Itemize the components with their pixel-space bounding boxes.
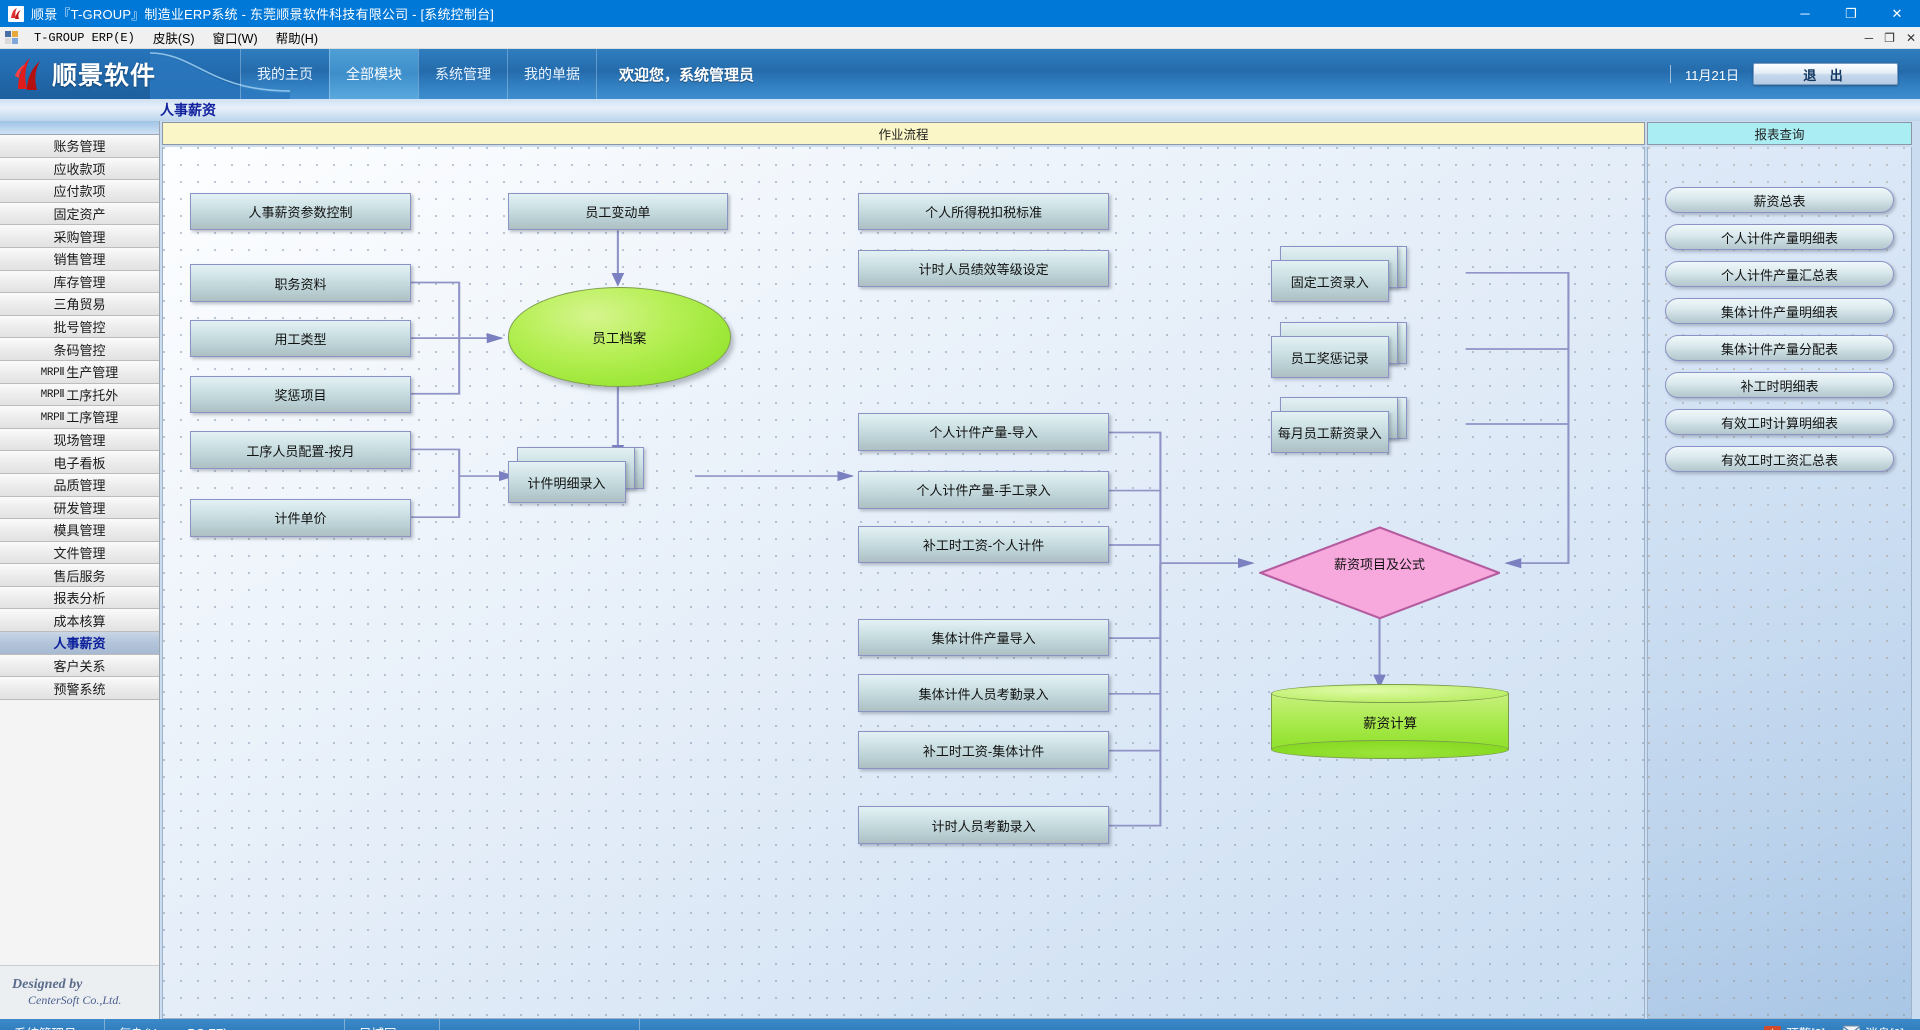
sidebar-item-label: 账务管理 — [53, 136, 105, 155]
node-employee-archive[interactable]: 员工档案 — [508, 287, 732, 386]
node-hourly-staff-attendance[interactable]: 计时人员考勤录入 — [858, 806, 1109, 844]
tab-all-modules[interactable]: 全部模块 — [329, 49, 418, 99]
node-label: 用工类型 — [274, 329, 326, 348]
node-hr-salary-param-control[interactable]: 人事薪资参数控制 — [190, 193, 411, 231]
sidebar-item-label: 库存管理 — [53, 272, 105, 291]
sidebar-item-label: 模具管理 — [53, 520, 105, 539]
node-job-info[interactable]: 职务资料 — [190, 264, 411, 302]
alert-label: 预警[2] — [1786, 1023, 1825, 1030]
sidebar-item-label: 人事薪资 — [53, 633, 105, 652]
brand-name: 顺景软件 — [52, 56, 156, 92]
stack-card-front: 每月员工薪资录入 — [1271, 411, 1389, 453]
node-hourly-perf-grade[interactable]: 计时人员绩效等级设定 — [858, 250, 1109, 288]
welcome-message: 欢迎您，系统管理员 — [597, 49, 776, 99]
sidebar-item-label: 报表分析 — [53, 588, 105, 607]
mdi-close-icon[interactable]: ✕ — [1906, 31, 1916, 45]
sidebar-item-17[interactable]: 模具管理 — [0, 519, 159, 542]
stack-monthly-salary-entry[interactable]: 每月员工薪资录入 — [1271, 397, 1477, 470]
sidebar-filler — [0, 700, 159, 965]
sidebar-item-8[interactable]: 批号管控 — [0, 316, 159, 339]
designed-by-label: Designed by — [12, 977, 159, 993]
module-grid-icon — [5, 31, 19, 45]
report-valid-hours-detail[interactable]: 有效工时计算明细表 — [1665, 409, 1894, 435]
sidebar-item-23[interactable]: 客户关系 — [0, 655, 159, 678]
node-label: 集体计件人员考勤录入 — [919, 684, 1049, 703]
sidebar-item-label: 客户关系 — [53, 656, 105, 675]
report-salary-summary[interactable]: 薪资总表 — [1665, 187, 1894, 213]
node-label: 工序人员配置-按月 — [246, 441, 354, 460]
flow-diagram-panel: 人事薪资参数控制职务资料用工类型奖惩项目工序人员配置-按月计件单价员工变动单个人… — [162, 147, 1645, 1019]
shunjing-flame-logo — [12, 56, 46, 92]
sidebar-item-19[interactable]: 售后服务 — [0, 564, 159, 587]
status-blank — [440, 1019, 640, 1030]
sidebar-item-2[interactable]: 应付款项 — [0, 180, 159, 203]
node-personal-piece-import[interactable]: 个人计件产量-导入 — [858, 413, 1109, 451]
panel-tabs: 作业流程 报表查询 — [162, 122, 1912, 145]
node-label: 员工档案 — [592, 327, 646, 347]
node-label: 员工变动单 — [585, 202, 650, 221]
sidebar-item-label: 成本核算 — [53, 611, 105, 630]
report-personal-piece-summary[interactable]: 个人计件产量汇总表 — [1665, 261, 1894, 287]
header-divider — [1670, 65, 1671, 83]
close-icon[interactable]: ✕ — [1874, 0, 1920, 27]
node-process-staff-config[interactable]: 工序人员配置-按月 — [190, 431, 411, 469]
report-group-piece-detail[interactable]: 集体计件产量明细表 — [1665, 298, 1894, 324]
sidebar-item-13[interactable]: 现场管理 — [0, 429, 159, 452]
menu-item-erp[interactable]: T-GROUP ERP(E) — [25, 29, 144, 47]
statusbar: 系统管理员 复杂(Young-PC:FZ) 局域网 预警[2] 消息[9] — [0, 1019, 1920, 1030]
sidebar-item-label: 文件管理 — [53, 543, 105, 562]
sidebar-item-label: 研发管理 — [53, 498, 105, 517]
sidebar-item-label: 生产管理 — [66, 362, 118, 381]
report-button-label: 集体计件产量分配表 — [1721, 339, 1838, 358]
report-button-label: 个人计件产量汇总表 — [1721, 265, 1838, 284]
sidebar-item-12[interactable]: MRPⅡ工序管理 — [0, 406, 159, 429]
message-label: 消息[9] — [1865, 1023, 1904, 1030]
report-personal-piece-detail[interactable]: 个人计件产量明细表 — [1665, 224, 1894, 250]
workspace: 作业流程 报表查询 — [160, 121, 1920, 1019]
report-button-label: 有效工时工资汇总表 — [1721, 450, 1838, 469]
report-button-label: 有效工时计算明细表 — [1721, 413, 1838, 432]
tab-report-query[interactable]: 报表查询 — [1647, 122, 1912, 145]
window-titlebar: 顺景『T-GROUP』制造业ERP系统 - 东莞顺景软件科技有限公司 - [系统… — [0, 0, 1920, 27]
node-label: 计件明细录入 — [528, 473, 606, 492]
sidebar-item-3[interactable]: 固定资产 — [0, 203, 159, 226]
sidebar-item-16[interactable]: 研发管理 — [0, 497, 159, 520]
report-query-panel: 薪资总表个人计件产量明细表个人计件产量汇总表集体计件产量明细表集体计件产量分配表… — [1647, 147, 1912, 1019]
sidebar-item-11[interactable]: MRPⅡ工序托外 — [0, 384, 159, 407]
stack-card-front: 固定工资录入 — [1271, 260, 1389, 302]
sidebar-item-14[interactable]: 电子看板 — [0, 451, 159, 474]
sidebar-item-label: 批号管控 — [53, 317, 105, 336]
stack-employee-reward-record[interactable]: 员工奖惩记录 — [1271, 322, 1477, 395]
node-label: 补工时工资-集体计件 — [923, 741, 1044, 760]
node-label: 员工奖惩记录 — [1291, 348, 1369, 367]
report-group-piece-allocation[interactable]: 集体计件产量分配表 — [1665, 335, 1894, 361]
node-income-tax-standard[interactable]: 个人所得税扣税标准 — [858, 193, 1109, 231]
sidebar-item-24[interactable]: 预警系统 — [0, 677, 159, 700]
sidebar-item-10[interactable]: MRPⅡ生产管理 — [0, 361, 159, 384]
node-label: 个人所得税扣税标准 — [925, 202, 1042, 221]
node-label: 职务资料 — [274, 274, 326, 293]
panels: 人事薪资参数控制职务资料用工类型奖惩项目工序人员配置-按月计件单价员工变动单个人… — [162, 147, 1912, 1019]
node-reward-penalty-item[interactable]: 奖惩项目 — [190, 376, 411, 414]
sidebar-item-label: 现场管理 — [53, 430, 105, 449]
sidebar-item-21[interactable]: 成本核算 — [0, 609, 159, 632]
menu-item-help[interactable]: 帮助(H) — [267, 26, 327, 49]
report-button-label: 集体计件产量明细表 — [1721, 302, 1838, 321]
status-right: 预警[2] 消息[9] — [1764, 1023, 1920, 1030]
sidebar-item-label: 固定资产 — [53, 204, 105, 223]
alert-chip[interactable]: 预警[2] — [1764, 1023, 1825, 1030]
window-controls: ─ ❐ ✕ — [1782, 0, 1920, 27]
tab-work-flow[interactable]: 作业流程 — [162, 122, 1645, 145]
sidebar-item-7[interactable]: 三角贸易 — [0, 293, 159, 316]
node-employee-change-form[interactable]: 员工变动单 — [508, 193, 729, 231]
sidebar-item-9[interactable]: 条码管控 — [0, 338, 159, 361]
page-title: 人事薪资 — [160, 100, 216, 120]
sidebar-item-label: 工序托外 — [66, 385, 118, 404]
stack-fixed-salary-entry[interactable]: 固定工资录入 — [1271, 246, 1477, 319]
alert-bell-icon — [1764, 1025, 1781, 1030]
sidebar-item-1[interactable]: 应收款项 — [0, 158, 159, 181]
sidebar-item-label: 三角贸易 — [53, 294, 105, 313]
sidebar-item-15[interactable]: 品质管理 — [0, 474, 159, 497]
report-makeup-hours-detail[interactable]: 补工时明细表 — [1665, 372, 1894, 398]
sidebar-item-prefix: MRPⅡ — [41, 410, 65, 424]
node-label: 计时人员考勤录入 — [932, 816, 1036, 835]
sidebar-item-5[interactable]: 销售管理 — [0, 248, 159, 271]
menu-item-skin[interactable]: 皮肤(S) — [144, 26, 204, 49]
minimize-icon[interactable]: ─ — [1782, 0, 1828, 27]
menu-item-window[interactable]: 窗口(W) — [204, 26, 267, 49]
sidebar-item-prefix: MRPⅡ — [41, 387, 65, 401]
report-valid-hours-salary-summary[interactable]: 有效工时工资汇总表 — [1665, 446, 1894, 472]
header-right: 11月21日 退 出 — [1670, 49, 1920, 99]
stack-card-front: 计件明细录入 — [508, 461, 626, 503]
mdi-minimize-icon[interactable]: ─ — [1865, 31, 1874, 45]
node-makeup-hours-group[interactable]: 补工时工资-集体计件 — [858, 731, 1109, 769]
header-nav: 我的主页 全部模块 系统管理 我的单据 — [240, 49, 597, 99]
node-label: 集体计件产量导入 — [932, 628, 1036, 647]
message-chip[interactable]: 消息[9] — [1843, 1023, 1904, 1030]
status-network: 局域网 — [345, 1019, 440, 1030]
exit-button[interactable]: 退 出 — [1753, 63, 1898, 85]
menubar: T-GROUP ERP(E) 皮肤(S) 窗口(W) 帮助(H) ─ ❐ ✕ — [0, 27, 1920, 49]
sidebar-item-label: 销售管理 — [53, 249, 105, 268]
node-label: 薪资计算 — [1271, 684, 1510, 759]
stack-card-front: 员工奖惩记录 — [1271, 336, 1389, 378]
mdi-window-controls: ─ ❐ ✕ — [1865, 27, 1916, 49]
sidebar-item-6[interactable]: 库存管理 — [0, 271, 159, 294]
sidebar: 账务管理应收款项应付款项固定资产采购管理销售管理库存管理三角贸易批号管控条码管控… — [0, 121, 160, 1019]
node-label: 个人计件产量-手工录入 — [916, 480, 1050, 499]
status-machine: 复杂(Young-PC:FZ) — [105, 1019, 345, 1030]
node-salary-items-formula[interactable]: 薪资项目及公式 — [1259, 526, 1501, 601]
node-label: 补工时工资-个人计件 — [923, 535, 1044, 554]
node-employment-type[interactable]: 用工类型 — [190, 320, 411, 358]
sidebar-item-label: 售后服务 — [53, 566, 105, 585]
node-group-piece-import[interactable]: 集体计件产量导入 — [858, 619, 1109, 657]
module-title-strip: 人事薪资 — [0, 99, 1920, 121]
sidebar-item-label: 采购管理 — [53, 227, 105, 246]
sidebar-item-label: 预警系统 — [53, 679, 105, 698]
node-label: 个人计件产量-导入 — [929, 422, 1037, 441]
sidebar-menu: 账务管理应收款项应付款项固定资产采购管理销售管理库存管理三角贸易批号管控条码管控… — [0, 135, 159, 700]
node-makeup-hours-personal[interactable]: 补工时工资-个人计件 — [858, 526, 1109, 564]
designer-company: CenterSoft Co.,Ltd. — [12, 993, 159, 1008]
main-body: 账务管理应收款项应付款项固定资产采购管理销售管理库存管理三角贸易批号管控条码管控… — [0, 121, 1920, 1019]
node-label: 固定工资录入 — [1291, 272, 1369, 291]
sidebar-item-label: 应收款项 — [53, 159, 105, 178]
node-label: 人事薪资参数控制 — [248, 202, 352, 221]
sidebar-item-label: 应付款项 — [53, 181, 105, 200]
status-user: 系统管理员 — [0, 1019, 105, 1030]
node-label: 计件单价 — [274, 508, 326, 527]
sidebar-item-label: 工序管理 — [66, 407, 118, 426]
report-button-label: 个人计件产量明细表 — [1721, 228, 1838, 247]
node-label: 每月员工薪资录入 — [1278, 423, 1382, 442]
node-label: 计时人员绩效等级设定 — [919, 259, 1049, 278]
brand: 顺景软件 — [0, 49, 240, 99]
tab-my-homepage[interactable]: 我的主页 — [240, 49, 329, 99]
node-label: 薪资项目及公式 — [1259, 526, 1501, 601]
report-button-label: 薪资总表 — [1753, 191, 1805, 210]
tab-my-documents[interactable]: 我的单据 — [507, 49, 597, 99]
current-date: 11月21日 — [1685, 65, 1739, 84]
stack-piece-detail-entry[interactable]: 计件明细录入 — [508, 447, 714, 520]
window-title: 顺景『T-GROUP』制造业ERP系统 - 东莞顺景软件科技有限公司 - [系统… — [31, 4, 494, 23]
sidebar-item-20[interactable]: 报表分析 — [0, 587, 159, 610]
app-header: 顺景软件 我的主页 全部模块 系统管理 我的单据 欢迎您，系统管理员 11月21… — [0, 49, 1920, 99]
sidebar-item-label: 品质管理 — [53, 475, 105, 494]
node-piece-unit-price[interactable]: 计件单价 — [190, 499, 411, 537]
sidebar-footer: Designed by CenterSoft Co.,Ltd. — [0, 965, 159, 1019]
maximize-icon[interactable]: ❐ — [1828, 0, 1874, 27]
sidebar-item-prefix: MRPⅡ — [41, 365, 65, 379]
tab-system-management[interactable]: 系统管理 — [418, 49, 507, 99]
node-personal-piece-manual[interactable]: 个人计件产量-手工录入 — [858, 471, 1109, 509]
sidebar-item-label: 电子看板 — [53, 453, 105, 472]
node-group-piece-attendance[interactable]: 集体计件人员考勤录入 — [858, 674, 1109, 712]
app-window-icon — [8, 6, 24, 22]
mdi-restore-icon[interactable]: ❐ — [1884, 31, 1895, 45]
report-button-label: 补工时明细表 — [1740, 376, 1818, 395]
sidebar-item-label: 条码管控 — [53, 340, 105, 359]
node-label: 奖惩项目 — [274, 385, 326, 404]
node-salary-calculation[interactable]: 薪资计算 — [1271, 684, 1510, 759]
sidebar-item-22[interactable]: 人事薪资 — [0, 632, 159, 655]
sidebar-item-18[interactable]: 文件管理 — [0, 542, 159, 565]
sidebar-header — [0, 121, 159, 135]
sidebar-item-4[interactable]: 采购管理 — [0, 225, 159, 248]
envelope-icon — [1843, 1025, 1860, 1030]
sidebar-item-0[interactable]: 账务管理 — [0, 135, 159, 158]
